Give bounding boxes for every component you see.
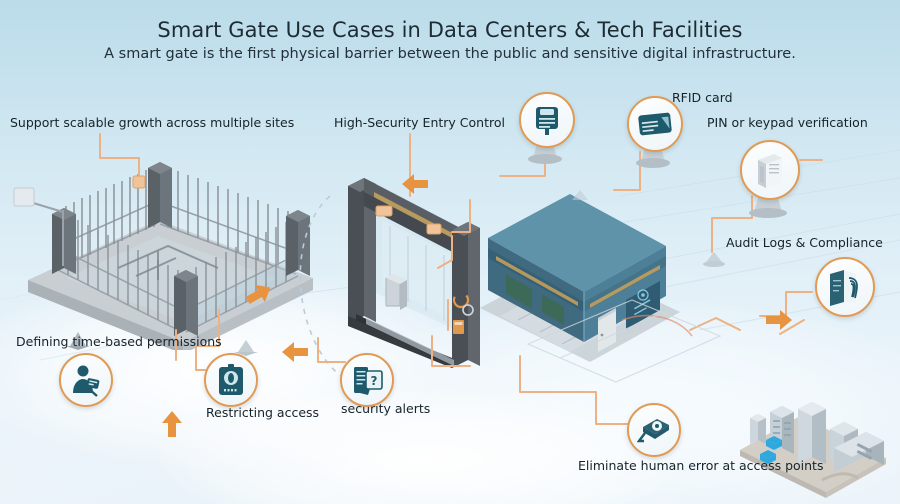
keypad-terminal-icon[interactable] bbox=[740, 140, 800, 200]
rfid-card-icon[interactable] bbox=[627, 96, 683, 152]
callout-label-restricting-access: Restricting access bbox=[206, 406, 319, 420]
tech-campus-cluster bbox=[726, 388, 898, 498]
access-panel-icon[interactable] bbox=[204, 353, 258, 407]
biometric-reader-glyph bbox=[530, 103, 564, 137]
document-fingerprint-icon[interactable] bbox=[815, 257, 875, 317]
page-subtitle: A smart gate is the first physical barri… bbox=[0, 46, 900, 62]
callout-label-high-security-entry: High-Security Entry Control bbox=[334, 116, 505, 130]
person-badge-glyph bbox=[69, 363, 103, 397]
callout-label-time-based-permissions: Defining time-based permissions bbox=[16, 335, 222, 349]
callout-label-eliminate-human-error: Eliminate human error at access points bbox=[578, 459, 823, 473]
callout-label-pin-keypad: PIN or keypad verification bbox=[707, 116, 868, 130]
callout-label-rfid-card: RFID card bbox=[672, 91, 733, 105]
alert-document-icon[interactable]: ? bbox=[340, 353, 394, 407]
callout-label-scalable-growth: Support scalable growth across multiple … bbox=[10, 116, 294, 130]
svg-text:?: ? bbox=[371, 374, 378, 388]
fingerprint-scanner-glyph bbox=[637, 415, 671, 445]
fenced-perimeter-compound bbox=[8, 150, 328, 350]
document-fingerprint-glyph bbox=[826, 268, 864, 306]
data-center-building bbox=[470, 190, 690, 370]
person-badge-icon[interactable] bbox=[59, 353, 113, 407]
page-title: Smart Gate Use Cases in Data Centers & T… bbox=[0, 18, 900, 42]
infographic-canvas: Smart Gate Use Cases in Data Centers & T… bbox=[0, 0, 900, 504]
access-panel-glyph bbox=[216, 363, 246, 397]
alert-document-glyph: ? bbox=[350, 363, 384, 397]
keypad-terminal-glyph bbox=[752, 150, 788, 190]
callout-label-audit-logs: Audit Logs & Compliance bbox=[726, 236, 883, 250]
rfid-card-glyph bbox=[637, 108, 673, 140]
fingerprint-scanner-icon[interactable] bbox=[627, 403, 681, 457]
biometric-reader-icon[interactable] bbox=[519, 92, 575, 148]
